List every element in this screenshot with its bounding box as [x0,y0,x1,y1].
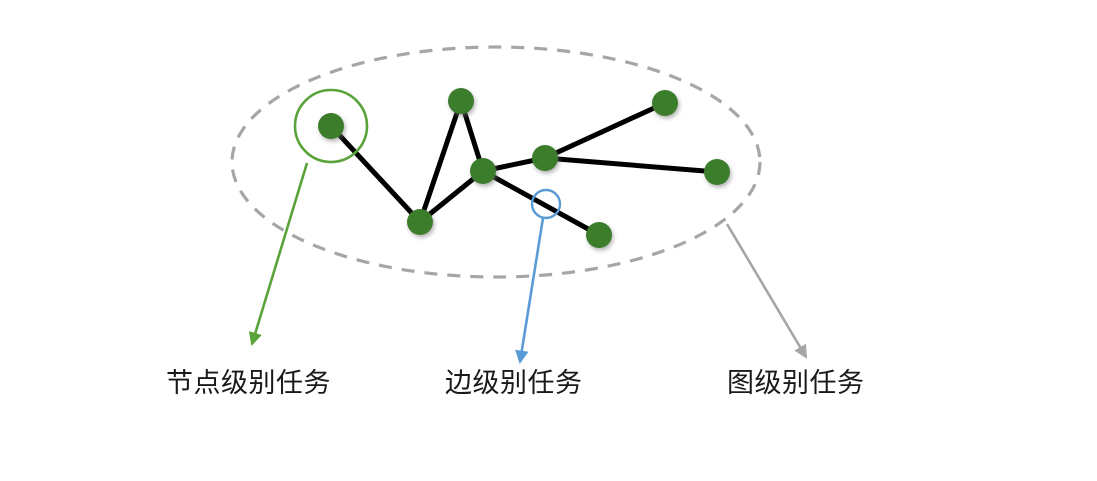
graph-node [470,158,496,184]
edge-level-task-label: 边级别任务 [445,370,583,397]
graph-node [448,88,474,114]
graph-level-task-label: 图级别任务 [727,370,865,397]
graph-edge [331,126,420,222]
graph-boundary-ellipse [232,47,760,277]
graph-node [532,145,558,171]
annotation-arrows [252,163,806,362]
node-level-arrow [252,163,307,344]
graph-node [407,209,433,235]
graph-figure [0,0,1097,481]
graph-edges [331,101,717,235]
diagram-canvas: 节点级别任务 边级别任务 图级别任务 [0,0,1097,481]
graph-edge [545,103,665,158]
graph-node [586,222,612,248]
node-level-task-label: 节点级别任务 [166,370,331,397]
edge-level-arrow [520,218,543,362]
graph-node [652,90,678,116]
graph-edge [545,158,717,172]
graph-level-boundary [232,47,760,277]
graph-node [704,159,730,185]
graph-level-arrow [727,224,806,357]
graph-node [318,113,344,139]
